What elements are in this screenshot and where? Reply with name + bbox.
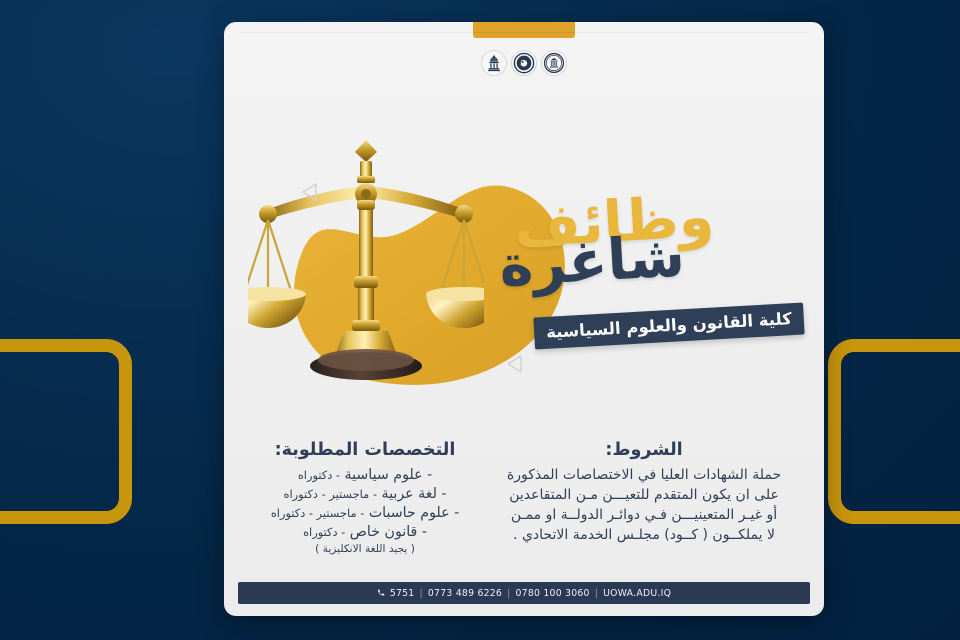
specialization-field: - قانون خاص bbox=[350, 524, 427, 540]
scales-of-justice-icon bbox=[248, 134, 484, 386]
footer-separator: | bbox=[507, 588, 510, 599]
ministry-emblem bbox=[481, 50, 507, 76]
specialization-degrees: - ماجستير - دكتوراه bbox=[271, 506, 364, 520]
university-emblem bbox=[511, 50, 537, 76]
content-columns: الشروط: حملة الشهادات العليا في الاختصاص… bbox=[252, 440, 796, 555]
footer-bar: 5751 | 0773 489 6226 | 0780 100 3060 | U… bbox=[238, 582, 810, 604]
top-tab bbox=[473, 22, 575, 38]
footer-website[interactable]: UOWA.ADU.IQ bbox=[603, 588, 671, 599]
headline-line-2: شاغرة bbox=[498, 225, 790, 294]
specializations-note: ( يجيد اللغة الانكليزية ) bbox=[252, 543, 478, 555]
specialization-item: - علوم سياسية - دكتوراه bbox=[252, 466, 478, 485]
condition-line: حملة الشهادات العليا في الاختصاصات المذك… bbox=[492, 466, 796, 486]
headline: وظائف شاغرة bbox=[510, 194, 800, 299]
emblem-row bbox=[481, 50, 567, 76]
gold-frame-right bbox=[828, 339, 960, 524]
footer-phone-2[interactable]: 0773 489 6226 bbox=[428, 588, 502, 599]
specialization-degrees: - دكتوراه bbox=[298, 468, 340, 482]
specialization-degrees: - ماجستير - دكتوراه bbox=[284, 487, 377, 501]
specialization-item: - قانون خاص - دكتوراه bbox=[252, 523, 478, 542]
specialization-item: - لغة عربية - ماجستير - دكتوراه bbox=[252, 485, 478, 504]
footer-contacts: 5751 | 0773 489 6226 | 0780 100 3060 | U… bbox=[377, 588, 671, 599]
poster-card: وظائف شاغرة كلية القانون والعلوم السياسي… bbox=[224, 22, 824, 616]
gold-frame-left bbox=[0, 339, 132, 524]
footer-phone-1[interactable]: 5751 bbox=[390, 588, 415, 599]
specialization-item: - علوم حاسبات - ماجستير - دكتوراه bbox=[252, 504, 478, 523]
conditions-heading: الشروط: bbox=[492, 440, 796, 460]
specializations-heading: التخصصات المطلوبة: bbox=[252, 440, 478, 460]
decorative-triangle-icon bbox=[299, 180, 323, 204]
condition-line: لا يملكــون ( كــود) مجلـس الخدمة الاتحا… bbox=[492, 526, 796, 546]
specialization-field: - علوم سياسية bbox=[345, 467, 433, 483]
specialization-field: - لغة عربية bbox=[381, 486, 446, 502]
college-emblem bbox=[541, 50, 567, 76]
condition-line: على ان يكون المتقدم للتعيـــن مـن المتقا… bbox=[492, 486, 796, 506]
specialization-degrees: - دكتوراه bbox=[303, 525, 345, 539]
condition-line: أو غيـر المتعينيـــن فـي دوائـر الدولــة… bbox=[492, 506, 796, 526]
specializations-column: التخصصات المطلوبة: - علوم سياسية - دكتور… bbox=[252, 440, 478, 555]
decorative-triangle-icon bbox=[504, 352, 528, 376]
conditions-column: الشروط: حملة الشهادات العليا في الاختصاص… bbox=[492, 440, 796, 555]
footer-separator: | bbox=[419, 588, 422, 599]
phone-icon bbox=[377, 588, 385, 599]
footer-separator: | bbox=[595, 588, 598, 599]
specialization-field: - علوم حاسبات bbox=[369, 505, 459, 521]
footer-phone-3[interactable]: 0780 100 3060 bbox=[516, 588, 590, 599]
